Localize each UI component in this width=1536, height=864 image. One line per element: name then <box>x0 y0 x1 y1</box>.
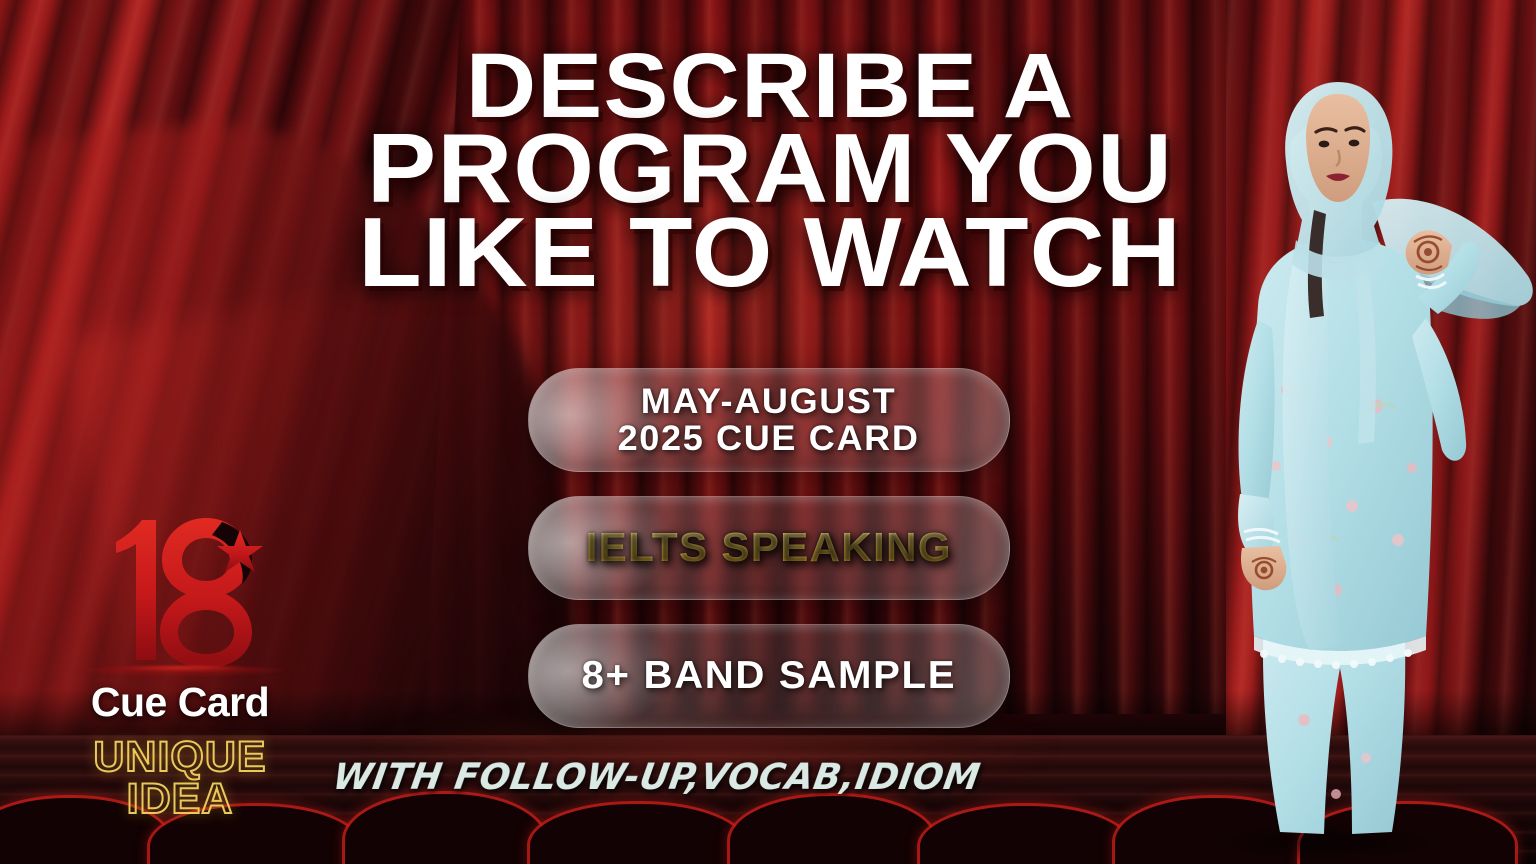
badge-date-cue-card[interactable]: MAY-AUGUST 2025 CUE CARD <box>528 368 1010 472</box>
badge-ielts-speaking[interactable]: IELTS SPEAKING <box>528 496 1010 600</box>
badge-ielts-speaking-label: IELTS SPEAKING <box>586 526 952 569</box>
logo-name: Cue Card <box>60 679 300 726</box>
seat-silhouette <box>530 804 745 864</box>
footer-caption: WITH FOLLOW-UP,VOCAB,IDIOM <box>330 757 983 798</box>
badge-list: MAY-AUGUST 2025 CUE CARD IELTS SPEAKING … <box>528 368 1010 752</box>
logo-tagline: UNIQUE IDEA <box>60 736 300 820</box>
badge-date-line-2: 2025 CUE CARD <box>618 419 920 458</box>
seat-silhouette <box>920 806 1130 864</box>
logo-tagline-line-2: IDEA <box>60 778 300 820</box>
badge-date-cue-card-label: MAY-AUGUST 2025 CUE CARD <box>618 383 920 457</box>
crescent-star-icon <box>80 508 280 673</box>
badge-band-sample-label: 8+ BAND SAMPLE <box>582 655 957 696</box>
title-line-3: LIKE TO WATCH <box>304 207 1237 297</box>
thumbnail-canvas: DESCRIBE A PROGRAM YOU LIKE TO WATCH MAY… <box>0 0 1536 864</box>
logo-number-mark <box>60 508 300 673</box>
logo-swoosh <box>76 666 286 677</box>
page-title: DESCRIBE A PROGRAM YOU LIKE TO WATCH <box>304 44 1237 297</box>
seat-silhouette <box>730 796 935 864</box>
badge-band-sample[interactable]: 8+ BAND SAMPLE <box>528 624 1010 728</box>
badge-date-line-1: MAY-AUGUST <box>641 382 897 421</box>
brand-logo[interactable]: Cue Card UNIQUE IDEA <box>60 508 300 820</box>
seat-silhouette <box>345 794 545 864</box>
logo-tagline-line-1: UNIQUE <box>60 736 300 778</box>
